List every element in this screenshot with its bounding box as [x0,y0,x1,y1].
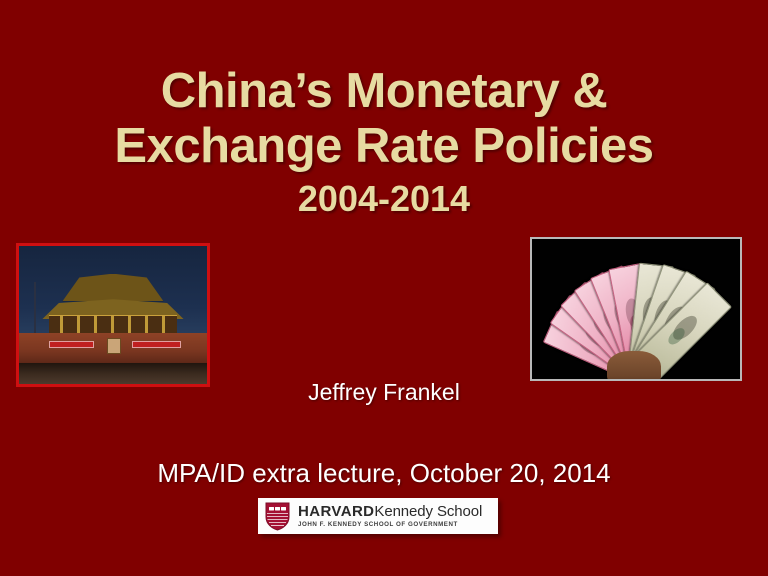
hks-kennedy-text: Kennedy School [374,503,482,520]
title-line-2: Exchange Rate Policies [0,119,768,174]
hks-subtitle: JOHN F. KENNEDY SCHOOL OF GOVERNMENT [298,522,482,528]
hks-wordmark: HARVARDKennedy School JOHN F. KENNEDY SC… [298,504,482,528]
harvard-shield-icon [265,502,290,531]
hks-harvard-text: HARVARD [298,503,374,520]
title-year-range: 2004-2014 [0,178,768,219]
harvard-kennedy-school-logo: HARVARDKennedy School JOHN F. KENNEDY SC… [258,498,498,534]
currency-backdrop [532,239,740,379]
hand-holding-notes [607,351,661,381]
tiananmen-column [60,316,63,333]
hks-name-line: HARVARDKennedy School [298,504,482,519]
tiananmen-column [162,316,165,333]
lecture-details: MPA/ID extra lecture, October 20, 2014 [0,458,768,489]
author-name: Jeffrey Frankel [0,379,768,406]
tiananmen-banner-left [49,341,94,348]
tiananmen-column [111,316,114,333]
mao-portrait [107,338,120,353]
presentation-slide: China’s Monetary & Exchange Rate Policie… [0,0,768,576]
slide-title-block: China’s Monetary & Exchange Rate Policie… [0,64,768,219]
flagpole-icon [34,282,36,334]
tiananmen-column [77,316,80,333]
tiananmen-photo [16,243,210,387]
tiananmen-column [145,316,148,333]
tiananmen-column [94,316,97,333]
tiananmen-banner-right [132,341,181,348]
currency-photo [530,237,742,381]
tiananmen-column [128,316,131,333]
title-line-1: China’s Monetary & [0,64,768,119]
